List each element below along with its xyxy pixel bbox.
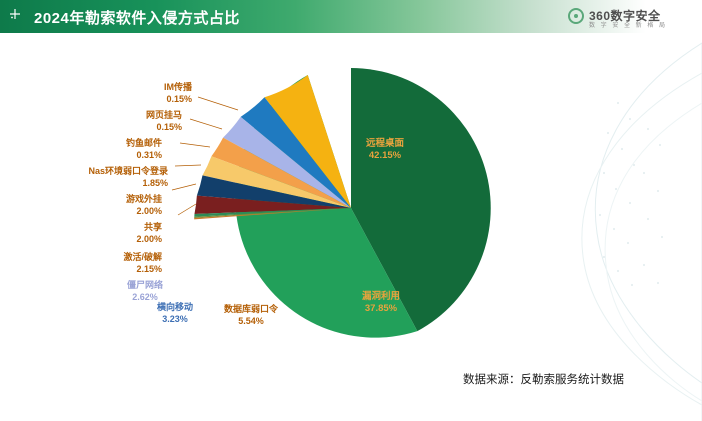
label-game-cheat: 游戏外挂 2.00%: [74, 193, 162, 217]
pie-chart: 远程桌面 42.15% 漏洞利用 37.85% 数据库弱口令 5.54% 横向移…: [0, 33, 702, 421]
label-botnet-name: 僵尸网络: [112, 279, 178, 291]
label-share-name: 共享: [86, 221, 162, 233]
label-nas-weak-password: Nas环境弱口令登录 1.85%: [28, 165, 168, 189]
label-db-weak-password: 数据库弱口令 5.54%: [213, 303, 289, 327]
slide-header: 2024年勒索软件入侵方式占比 360数字安全 数 字 安 全 新 格 局: [0, 0, 702, 33]
label-vuln-exploit: 漏洞利用 37.85%: [338, 291, 424, 315]
label-im-spread-pct: 0.15%: [92, 93, 192, 105]
plus-icon: [9, 8, 21, 23]
label-game-cheat-pct: 2.00%: [74, 205, 162, 217]
label-phishing-mail-pct: 0.31%: [62, 149, 162, 161]
label-db-weak-password-name: 数据库弱口令: [213, 303, 289, 315]
label-crack-pct: 2.15%: [86, 263, 162, 275]
label-im-spread-name: IM传播: [92, 81, 192, 93]
label-phishing-mail-name: 钓鱼邮件: [62, 137, 162, 149]
logo-mark-icon: [568, 8, 584, 24]
label-share-pct: 2.00%: [86, 233, 162, 245]
label-phishing-mail: 钓鱼邮件 0.31%: [62, 137, 162, 161]
label-db-weak-password-pct: 5.54%: [213, 315, 289, 327]
label-crack: 激活/破解 2.15%: [86, 251, 162, 275]
label-share: 共享 2.00%: [86, 221, 162, 245]
page-title: 2024年勒索软件入侵方式占比: [34, 7, 240, 28]
label-lateral-movement: 横向移动 3.23%: [144, 301, 206, 325]
label-botnet: 僵尸网络 2.62%: [112, 279, 178, 303]
label-im-spread: IM传播 0.15%: [92, 81, 192, 105]
label-web-trojan-pct: 0.15%: [82, 121, 182, 133]
label-nas-weak-password-name: Nas环境弱口令登录: [28, 165, 168, 177]
label-remote-desktop-name: 远程桌面: [342, 138, 428, 150]
label-crack-name: 激活/破解: [86, 251, 162, 263]
label-web-trojan: 网页挂马 0.15%: [82, 109, 182, 133]
label-remote-desktop-pct: 42.15%: [342, 150, 428, 162]
logo-tagline: 数 字 安 全 新 格 局: [589, 20, 667, 29]
label-botnet-pct: 2.62%: [112, 291, 178, 303]
label-remote-desktop: 远程桌面 42.15%: [342, 138, 428, 162]
label-game-cheat-name: 游戏外挂: [74, 193, 162, 205]
label-vuln-exploit-pct: 37.85%: [338, 303, 424, 315]
slide-page: 2024年勒索软件入侵方式占比 360数字安全 数 字 安 全 新 格 局: [0, 0, 702, 421]
label-vuln-exploit-name: 漏洞利用: [338, 291, 424, 303]
label-nas-weak-password-pct: 1.85%: [28, 177, 168, 189]
label-lateral-movement-pct: 3.23%: [144, 313, 206, 325]
data-source-note: 数据来源：反勒索服务统计数据: [463, 371, 624, 387]
brand-logo: 360数字安全 数 字 安 全 新 格 局: [568, 5, 688, 29]
label-web-trojan-name: 网页挂马: [82, 109, 182, 121]
